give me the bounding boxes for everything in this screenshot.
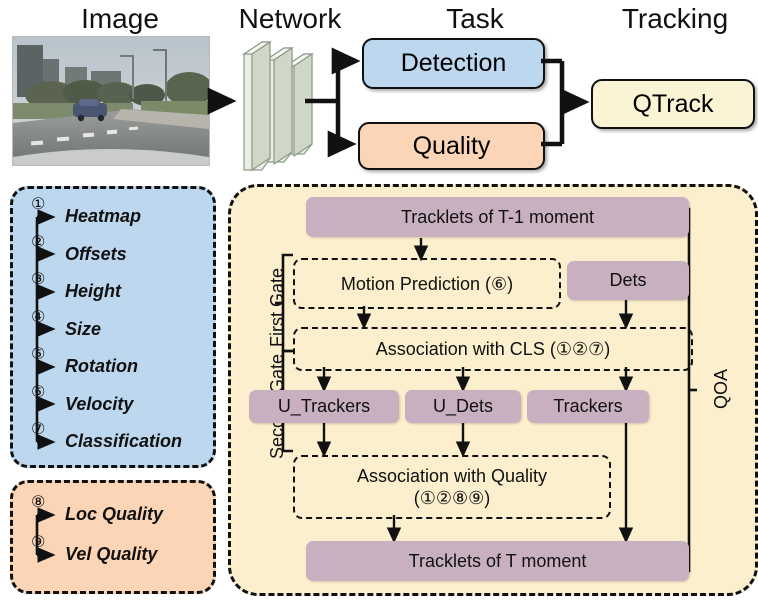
header-image: Image	[40, 2, 200, 36]
legend-num-2: ②	[31, 235, 45, 251]
header-network: Network	[215, 2, 365, 36]
tracklets-now-box[interactable]: Tracklets of T moment	[306, 541, 689, 581]
legend-item-vel-quality: Vel Quality	[65, 544, 157, 565]
motion-prediction-box[interactable]: Motion Prediction (⑥)	[293, 258, 561, 309]
legend-item-size: Size	[65, 319, 101, 340]
u-dets-box[interactable]: U_Dets	[405, 390, 521, 423]
legend-num-8: ⑧	[31, 495, 45, 511]
legend-item-classification: Classification	[65, 431, 182, 452]
quality-outputs-legend: ⑧ Loc Quality ⑨ Vel Quality	[10, 480, 216, 594]
association-quality-box[interactable]: Association with Quality (①②⑧⑨)	[293, 455, 611, 519]
qtrack-box[interactable]: QTrack	[591, 79, 755, 129]
header-task: Task	[400, 2, 550, 36]
header-tracking: Tracking	[595, 2, 755, 36]
dets-box[interactable]: Dets	[567, 261, 689, 300]
legend-item-heatmap: Heatmap	[65, 206, 141, 227]
legend-item-velocity: Velocity	[65, 394, 133, 415]
network-layers-icon	[228, 32, 348, 172]
legend-item-loc-quality: Loc Quality	[65, 504, 163, 525]
first-gate-label: First Gate	[267, 268, 288, 347]
legend-num-4: ④	[31, 310, 45, 326]
legend-item-rotation: Rotation	[65, 356, 138, 377]
legend-num-5: ⑤	[31, 347, 45, 363]
qoa-label: QOA	[711, 369, 732, 409]
trackers-box[interactable]: Trackers	[527, 390, 649, 423]
detection-outputs-legend: ① Heatmap ② Offsets ③ Height ④ Size ⑤ Ro…	[10, 186, 216, 468]
legend-num-7: ⑦	[31, 422, 45, 438]
qoa-panel: First Gate Second Gate QOA Tracklets of …	[228, 184, 758, 596]
legend-num-6: ⑥	[31, 385, 45, 401]
detection-box[interactable]: Detection	[362, 38, 545, 89]
legend-item-offsets: Offsets	[65, 244, 127, 265]
tracklets-prev-box[interactable]: Tracklets of T-1 moment	[306, 197, 689, 237]
legend-num-9: ⑨	[31, 535, 45, 551]
legend-item-height: Height	[65, 281, 121, 302]
association-quality-line1: Association with Quality	[357, 465, 547, 487]
association-cls-box[interactable]: Association with CLS (①②⑦)	[293, 327, 693, 371]
driving-scene-image	[12, 36, 210, 166]
association-quality-line2: (①②⑧⑨)	[414, 487, 491, 509]
quality-box[interactable]: Quality	[358, 122, 545, 170]
legend-num-1: ①	[31, 197, 45, 213]
legend-num-3: ③	[31, 272, 45, 288]
u-trackers-box[interactable]: U_Trackers	[249, 390, 399, 423]
